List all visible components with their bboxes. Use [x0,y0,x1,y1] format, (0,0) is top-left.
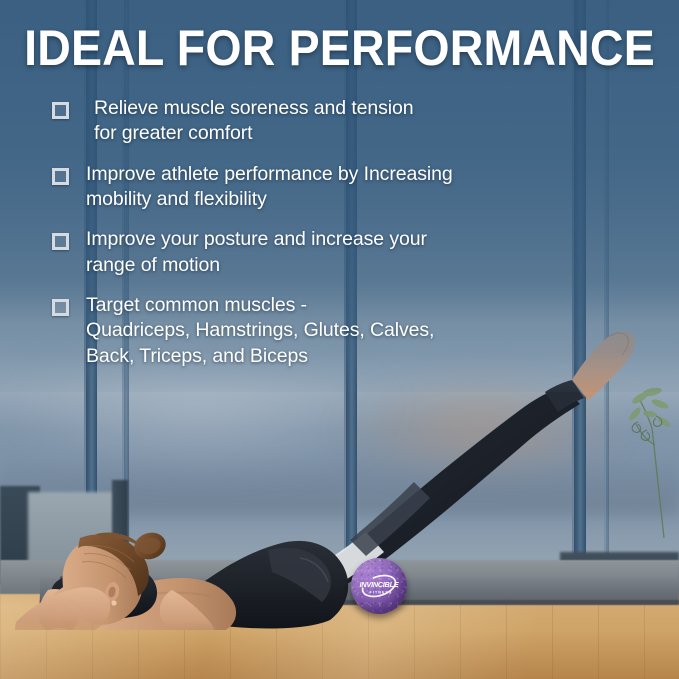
invincible-logo-icon: INVINCIBLE FITNESS [354,568,404,604]
benefits-list: Relieve muscle soreness and tension for … [52,96,652,384]
marketing-image: INVINCIBLE FITNESS IDEAL FOR PERFORMANCE… [0,0,679,679]
checkbox-square-icon [52,233,69,250]
brand-subtext: FITNESS [370,591,393,595]
benefit-line: for greater comfort [94,121,414,146]
copy-block: IDEAL FOR PERFORMANCE Relieve muscle sor… [0,0,679,400]
product-massage-ball: INVINCIBLE FITNESS [351,558,407,614]
benefit-text: Target common muscles - Quadriceps, Hams… [86,293,434,369]
benefit-line: mobility and flexibility [86,187,453,212]
list-item: Improve your posture and increase your r… [52,227,652,278]
brand-logo: INVINCIBLE FITNESS [351,558,407,614]
checkbox-square-icon [52,299,69,316]
list-item: Target common muscles - Quadriceps, Hams… [52,293,652,369]
checkbox-square-icon [52,168,69,185]
list-item: Relieve muscle soreness and tension for … [52,96,652,147]
list-item: Improve athlete performance by Increasin… [52,162,652,213]
model-bent-knee [14,587,110,630]
checkbox-square-icon [52,102,69,119]
brand-name-text: INVINCIBLE [360,580,400,589]
benefit-line: Target common muscles - [86,293,434,318]
benefit-line: Back, Triceps, and Biceps [86,344,434,369]
benefit-text: Relieve muscle soreness and tension for … [94,96,414,147]
benefit-text: Improve athlete performance by Increasin… [86,162,453,213]
benefit-line: Relieve muscle soreness and tension [94,96,414,121]
benefit-line: range of motion [86,253,427,278]
benefit-line: Improve your posture and increase your [86,227,427,252]
benefit-text: Improve your posture and increase your r… [86,227,427,278]
benefit-line: Quadriceps, Hamstrings, Glutes, Calves, [86,318,434,343]
page-title: IDEAL FOR PERFORMANCE [24,22,655,75]
benefit-line: Improve athlete performance by Increasin… [86,162,453,187]
